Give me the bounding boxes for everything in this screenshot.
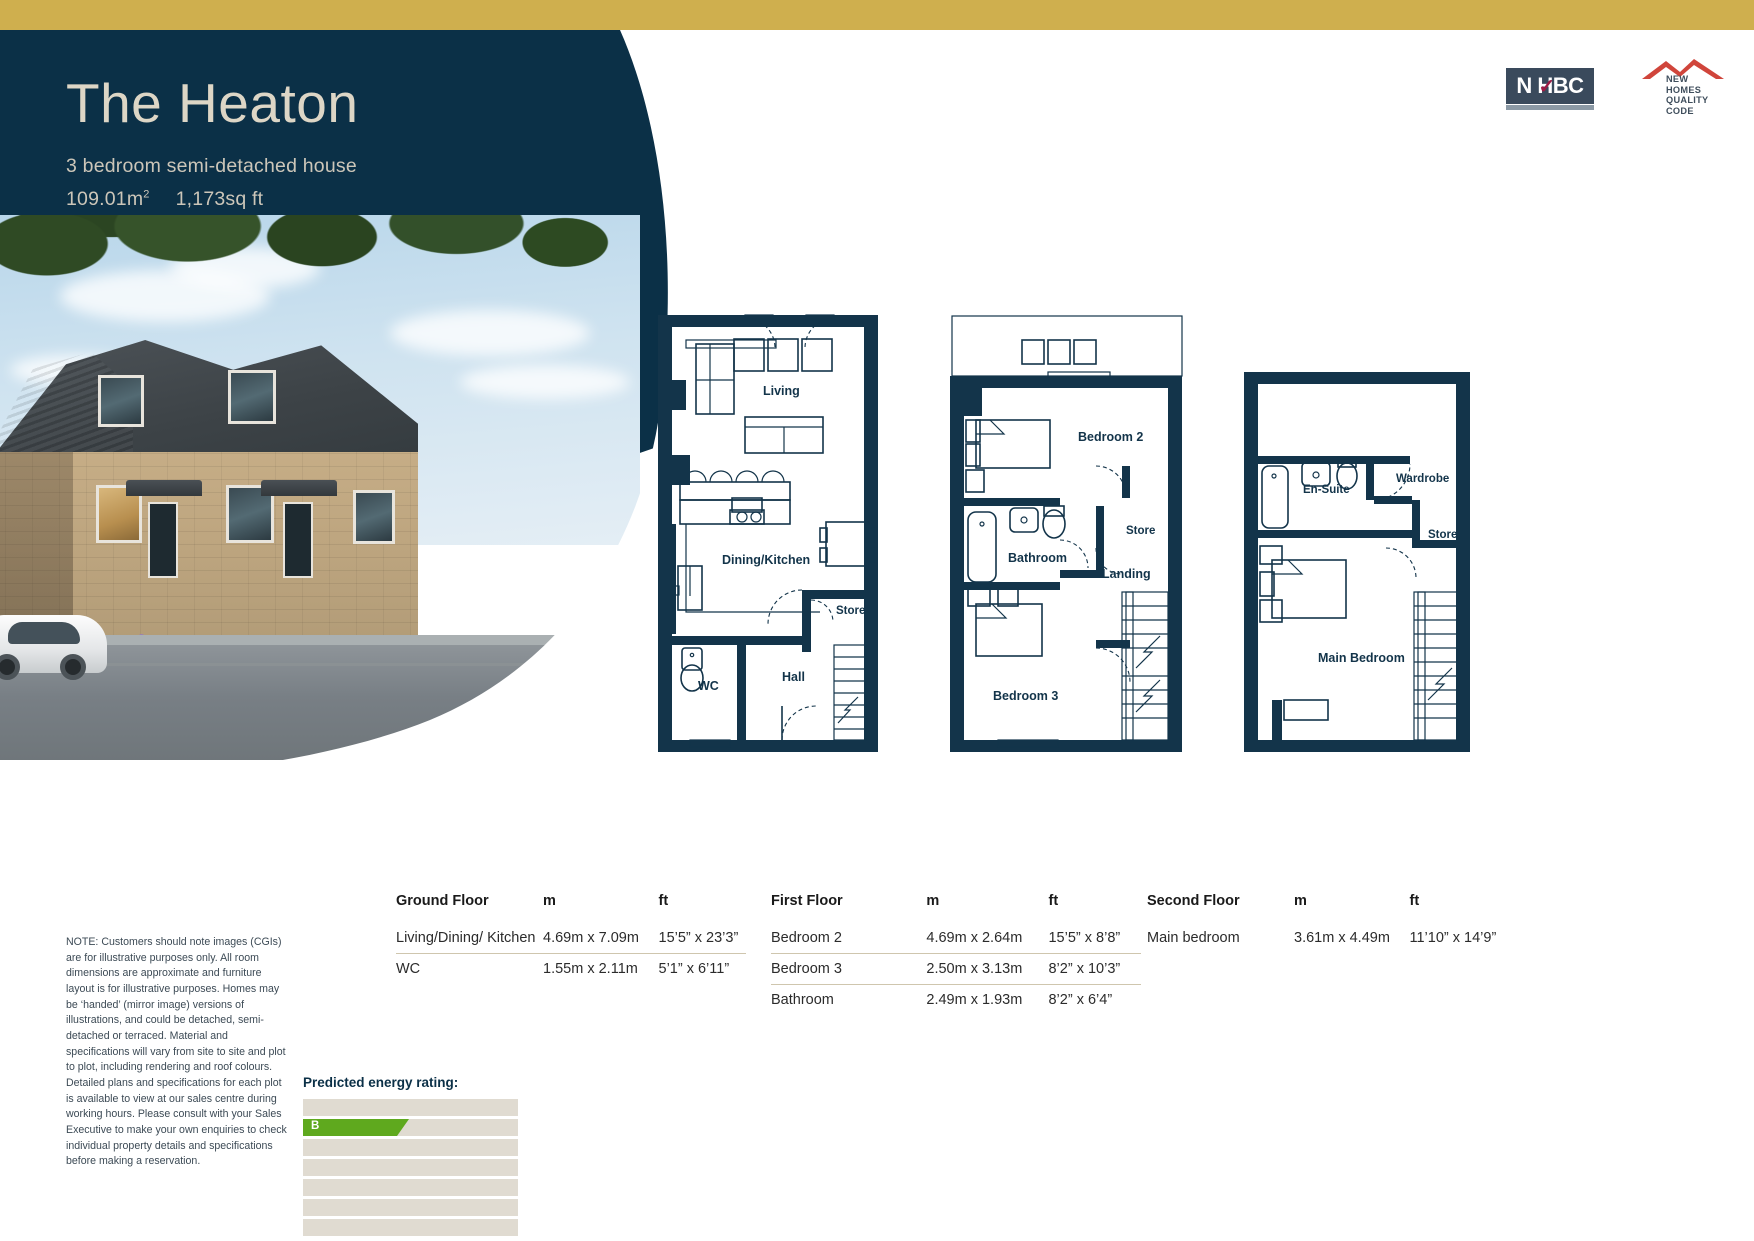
room-name: Bedroom 2 [771, 923, 926, 954]
room-imperial: 5’1” x 6’11” [659, 954, 747, 985]
nhqc-line-3: QUALITY [1666, 95, 1708, 106]
room-label-store-gf: Store [836, 605, 865, 617]
second-floor-plan: En-Suite Wardrobe Store Main Bedroom [1244, 372, 1470, 752]
nhqc-line-1: NEW [1666, 74, 1708, 85]
energy-rating-bar [303, 1199, 481, 1216]
room-imperial: 8’2” x 10’3” [1048, 954, 1141, 985]
energy-rating-bar [303, 1139, 427, 1156]
staircase-first [1122, 592, 1168, 740]
logo-group: N HBC ✓ NEW HOMES QUALITY CODE [1506, 58, 1726, 114]
nhbc-logo-underline [1506, 105, 1594, 110]
room-label-wc: WC [698, 679, 719, 693]
table-header-imperial: ft [659, 893, 747, 923]
room-imperial: 8’2” x 6’4” [1048, 985, 1141, 1016]
room-label-wardrobe: Wardrobe [1396, 473, 1449, 485]
energy-rating-chart: B [303, 1099, 518, 1236]
table-header-floor: First Floor [771, 893, 926, 923]
energy-rating-letter: B [311, 1120, 319, 1132]
room-label-bedroom-2: Bedroom 2 [1078, 430, 1143, 444]
room-imperial: 15’5” x 23’3” [659, 923, 747, 954]
energy-rating-row [303, 1099, 518, 1116]
table-header-metric: m [543, 893, 659, 923]
room-metric: 4.69m x 2.64m [926, 923, 1048, 954]
table-row: Bathroom 2.49m x 1.93m 8’2” x 6’4” [771, 985, 1141, 1016]
disclaimer-note: NOTE: Customers should note images (CGIs… [66, 935, 292, 1170]
room-label-bathroom: Bathroom [1008, 551, 1067, 565]
new-homes-quality-code-logo: NEW HOMES QUALITY CODE [1636, 58, 1726, 114]
nhqc-logo-text: NEW HOMES QUALITY CODE [1666, 74, 1708, 117]
room-label-bedroom-3: Bedroom 3 [993, 689, 1058, 703]
room-imperial: 15’5” x 8’8” [1048, 923, 1141, 954]
energy-rating-row [303, 1219, 518, 1236]
ground-floor-table: Ground Floor m ft Living/Dining/ Kitchen… [396, 893, 746, 984]
room-name: Living/Dining/ Kitchen [396, 923, 543, 954]
room-label-store-sf: Store [1428, 529, 1457, 541]
ground-floor-plan: Living Dining/Kitchen WC [658, 315, 878, 752]
energy-rating-bar [303, 1219, 499, 1236]
second-floor-table: Second Floor m ft Main bedroom 3.61m x 4… [1147, 893, 1497, 953]
nhbc-logo-text: N HBC ✓ [1516, 75, 1583, 97]
floorplans-group: .w { fill:#13344a; } .fn { fill:none; st… [0, 0, 1754, 790]
table-row: Bedroom 3 2.50m x 3.13m 8’2” x 10’3” [771, 954, 1141, 985]
room-name: Main bedroom [1147, 923, 1294, 953]
staircase-second [1414, 592, 1458, 740]
first-floor-plan: Bedroom 2 Bathroom Bedroom 3 Store Landi… [950, 316, 1182, 752]
nhbc-checkmark-icon: ✓ [1538, 77, 1551, 94]
table-header-row: Second Floor m ft [1147, 893, 1497, 923]
room-metric: 1.55m x 2.11m [543, 954, 659, 985]
energy-rating-bar [303, 1179, 463, 1196]
energy-rating-row [303, 1159, 518, 1176]
nhqc-line-2: HOMES [1666, 85, 1708, 96]
room-label-hall: Hall [782, 670, 805, 684]
energy-rating-row: B [303, 1119, 518, 1136]
room-label-en-suite: En-Suite [1303, 484, 1350, 496]
table-header-row: First Floor m ft [771, 893, 1141, 923]
first-floor-table: First Floor m ft Bedroom 2 4.69m x 2.64m… [771, 893, 1141, 1015]
energy-rating-row [303, 1179, 518, 1196]
table-header-metric: m [926, 893, 1048, 923]
room-label-store-ff: Store [1126, 525, 1155, 537]
energy-rating-bar [303, 1159, 445, 1176]
table-header-metric: m [1294, 893, 1410, 923]
room-metric: 2.50m x 3.13m [926, 954, 1048, 985]
room-metric: 4.69m x 7.09m [543, 923, 659, 954]
room-label-landing: Landing [1102, 567, 1151, 581]
room-name: Bathroom [771, 985, 926, 1016]
room-metric: 2.49m x 1.93m [926, 985, 1048, 1016]
energy-rating-row [303, 1139, 518, 1156]
energy-rating-bar [303, 1099, 399, 1116]
room-imperial: 11’10” x 14’9” [1410, 923, 1498, 953]
room-label-living: Living [763, 384, 800, 398]
table-header-imperial: ft [1048, 893, 1141, 923]
nhbc-logo: N HBC ✓ [1506, 68, 1594, 104]
table-row: Living/Dining/ Kitchen 4.69m x 7.09m 15’… [396, 923, 746, 954]
room-name: WC [396, 954, 543, 985]
room-label-main-bedroom: Main Bedroom [1318, 651, 1405, 665]
table-header-floor: Second Floor [1147, 893, 1294, 923]
table-header-floor: Ground Floor [396, 893, 543, 923]
table-header-row: Ground Floor m ft [396, 893, 746, 923]
table-row: Main bedroom 3.61m x 4.49m 11’10” x 14’9… [1147, 923, 1497, 953]
staircase-ground [834, 645, 866, 740]
room-metric: 3.61m x 4.49m [1294, 923, 1410, 953]
room-label-dining-kitchen: Dining/Kitchen [722, 553, 810, 567]
room-name: Bedroom 3 [771, 954, 926, 985]
energy-rating-row [303, 1199, 518, 1216]
energy-rating-block: Predicted energy rating: B [303, 1075, 518, 1239]
energy-rating-title: Predicted energy rating: [303, 1075, 518, 1090]
table-row: Bedroom 2 4.69m x 2.64m 15’5” x 8’8” [771, 923, 1141, 954]
table-row: WC 1.55m x 2.11m 5’1” x 6’11” [396, 954, 746, 985]
table-header-imperial: ft [1410, 893, 1498, 923]
nhqc-line-4: CODE [1666, 106, 1708, 117]
